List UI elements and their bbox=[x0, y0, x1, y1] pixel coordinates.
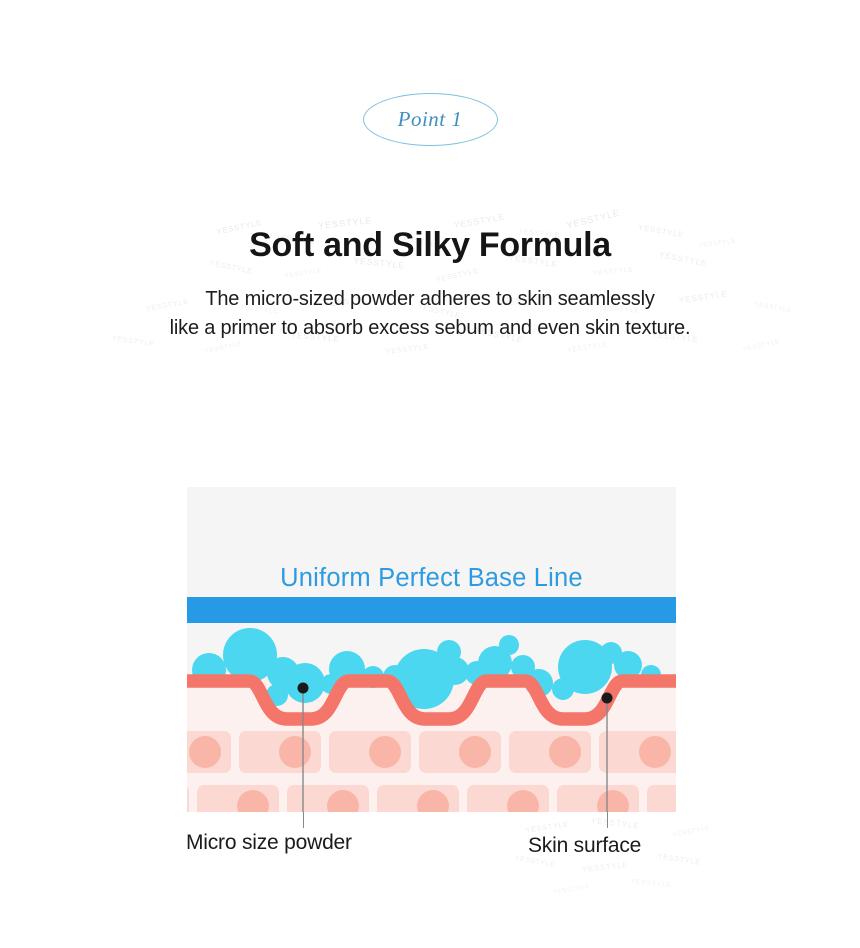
watermark-text: YESSTYLE bbox=[582, 860, 629, 873]
subtitle-line-1: The micro-sized powder adheres to skin s… bbox=[0, 288, 860, 311]
skin-cell-row bbox=[187, 731, 676, 773]
watermark-text: YESSTYLE bbox=[593, 265, 634, 276]
watermark-text: YESSTYLE bbox=[566, 340, 608, 354]
page-root: Point 1 Soft and Silky Formula The micro… bbox=[0, 0, 860, 948]
label-micro-size-powder: Micro size powder bbox=[186, 831, 352, 855]
watermark-text: YESSTYLE bbox=[284, 267, 323, 280]
skin-cell-group bbox=[187, 731, 676, 812]
diagram-caption: Uniform Perfect Base Line bbox=[280, 564, 583, 592]
page-title: Soft and Silky Formula bbox=[0, 226, 860, 265]
point-badge-container: Point 1 bbox=[0, 93, 860, 146]
watermark-text: YESSTYLE bbox=[204, 340, 243, 355]
point-badge: Point 1 bbox=[363, 93, 498, 146]
watermark-text: YESSTYLE bbox=[657, 852, 701, 867]
label-skin-surface: Skin surface bbox=[528, 834, 641, 858]
watermark-text: YESSTYLE bbox=[435, 266, 479, 284]
watermark-text: YESSTYLE bbox=[672, 824, 711, 839]
watermark-text: YESSTYLE bbox=[552, 882, 591, 896]
skin-diagram-svg: Uniform Perfect Base Line bbox=[187, 487, 676, 812]
subtitle-line-2: like a primer to absorb excess sebum and… bbox=[0, 317, 860, 340]
skin-diagram-panel: Uniform Perfect Base Line bbox=[187, 487, 676, 812]
pointer-line-micro-powder-ext bbox=[303, 812, 304, 828]
uniform-base-line-bar bbox=[187, 597, 676, 623]
skin-cell-row bbox=[187, 785, 676, 812]
pointer-line-skin-surface-ext bbox=[607, 812, 608, 828]
watermark-text: YESSTYLE bbox=[385, 342, 429, 355]
watermark-text: YESSTYLE bbox=[525, 820, 569, 835]
watermark-text: YESSTYLE bbox=[590, 816, 640, 831]
watermark-text: YESSTYLE bbox=[631, 877, 672, 888]
